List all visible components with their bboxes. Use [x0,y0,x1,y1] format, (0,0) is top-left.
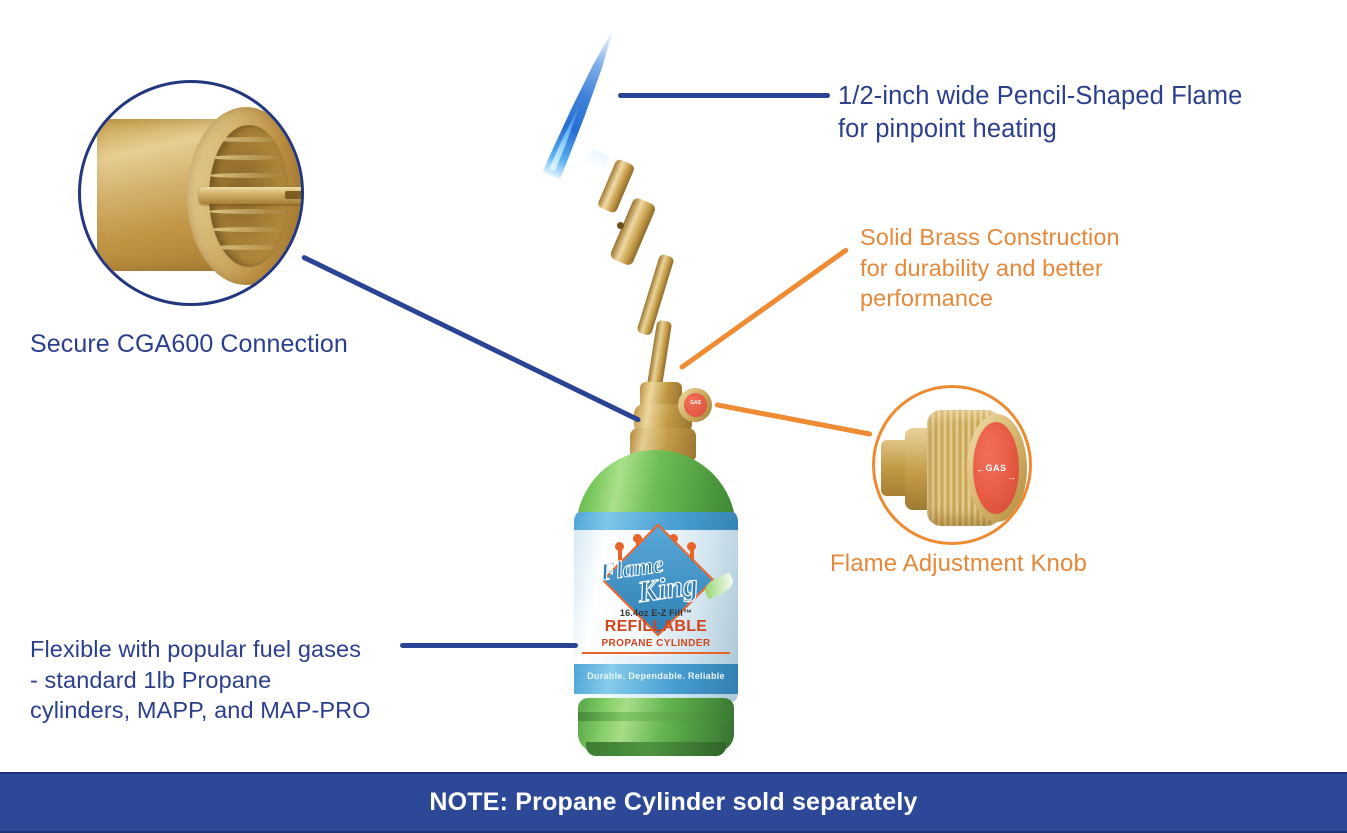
knob-red-face: GAS ← → [973,422,1019,514]
note-banner-text: NOTE: Propane Cylinder sold separately [429,788,917,817]
infographic-canvas: Flame King 16.4oz E-Z Fill™ REFILLABLE P… [0,0,1347,833]
callout-brass: Solid Brass Construction for durability … [860,222,1160,314]
gas-knob-red-cap [684,393,707,417]
cga600-center-pin [199,187,304,204]
label-tagline: Durable. Dependable. Reliable [574,671,738,681]
note-banner: NOTE: Propane Cylinder sold separately [0,772,1347,833]
brand-name-line2: King [636,568,700,610]
knob-gas-label: GAS [985,463,1006,473]
callout-flame: 1/2-inch wide Pencil-Shaped Flame for pi… [838,80,1268,146]
gas-knob [678,388,712,422]
valve-base-collar [630,428,696,460]
cylinder-base-ridge [578,712,734,721]
label-bottom-band [574,664,738,694]
crown-graphic [614,528,698,570]
leaf-graphic [702,572,736,599]
brand-name-line1: Flame [598,552,665,588]
knob-detail-circle: GAS ← → [872,385,1032,545]
burner-tip [586,149,611,172]
callout-knob: Flame Adjustment Knob [830,548,1160,579]
cga600-detail-circle [78,80,304,306]
label-size-text: 16.4oz E-Z Fill™ [574,608,738,618]
callout-cga600: Secure CGA600 Connection [30,328,430,361]
callout-flexible: Flexible with popular fuel gases - stand… [30,634,430,726]
label-subhead: PROPANE CYLINDER [574,638,738,649]
logo-diamond [601,523,714,636]
valve-upper-body [640,382,682,410]
burner-barrel [609,197,657,267]
burner-air-hole [616,221,625,230]
cylinder-label: Flame King 16.4oz E-Z Fill™ REFILLABLE P… [574,512,738,702]
label-white-field [574,530,738,656]
brass-tube-upper [636,253,674,336]
leader-line-brass [679,247,849,370]
label-top-band [574,512,738,532]
cylinder-base-rim [586,742,726,756]
label-divider [582,652,730,654]
label-headline: REFILLABLE [574,618,738,636]
knob-arrow-right-icon: → [1007,472,1016,482]
flame-inner-cone [546,100,586,173]
brass-tube-lower [646,320,672,393]
knob-arrow-left-icon: ← [976,464,985,474]
burner-nozzle [597,158,636,214]
cylinder-dome [576,450,736,546]
leader-line-flame [618,93,830,98]
cylinder-base [578,698,734,752]
blue-flame [535,22,629,183]
leader-line-knob [715,402,873,436]
valve-mid-body [634,404,692,434]
